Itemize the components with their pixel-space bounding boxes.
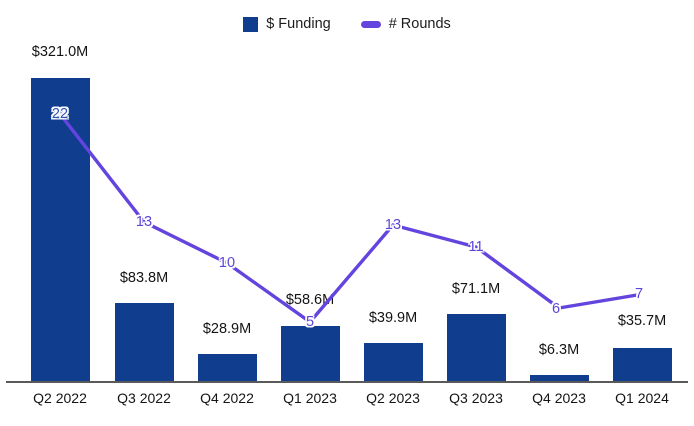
bar-q3-2022[interactable] — [115, 303, 174, 381]
bar-q2-2022[interactable] — [31, 78, 90, 381]
point-value-label: 22 — [52, 106, 68, 122]
point-value-label: 13 — [385, 217, 401, 233]
bar-q4-2022[interactable] — [198, 354, 257, 381]
x-tick-label: Q4 2022 — [200, 390, 254, 406]
x-tick-label: Q1 2024 — [615, 390, 669, 406]
funding-rounds-chart: $ Funding # Rounds $321.0M $83.8M $28.9M… — [0, 0, 694, 426]
bar-value-label: $58.6M — [284, 292, 336, 308]
rounds-line-series — [0, 0, 694, 426]
bar-value-label: $6.3M — [537, 342, 581, 358]
point-value-label: 5 — [306, 314, 314, 330]
point-value-label: 11 — [468, 239, 483, 255]
x-tick-label: Q1 2023 — [283, 390, 337, 406]
bar-value-label: $28.9M — [201, 321, 253, 337]
point-value-label: 13 — [136, 214, 152, 230]
bar-q1-2023[interactable] — [281, 326, 340, 381]
bar-value-label: $35.7M — [616, 313, 668, 329]
plot-area: $321.0M $83.8M $28.9M $58.6M $39.9M $71.… — [0, 0, 694, 426]
x-tick-label: Q2 2022 — [33, 390, 87, 406]
x-tick-label: Q4 2023 — [532, 390, 586, 406]
x-tick-label: Q2 2023 — [366, 390, 420, 406]
x-tick-label: Q3 2023 — [449, 390, 503, 406]
x-tick-label: Q3 2022 — [117, 390, 171, 406]
x-axis-line — [6, 381, 688, 383]
bar-q1-2024[interactable] — [613, 348, 672, 381]
bar-q3-2023[interactable] — [447, 314, 506, 381]
bar-value-label: $39.9M — [367, 310, 419, 326]
point-value-label: 6 — [552, 301, 560, 317]
point-value-label: 7 — [635, 286, 643, 302]
bar-value-label: $71.1M — [450, 281, 502, 297]
bar-q4-2023[interactable] — [530, 375, 589, 381]
bar-value-label: $321.0M — [30, 44, 90, 60]
bar-q2-2023[interactable] — [364, 343, 423, 381]
point-value-label: 10 — [219, 255, 235, 271]
bar-value-label: $83.8M — [118, 270, 170, 286]
